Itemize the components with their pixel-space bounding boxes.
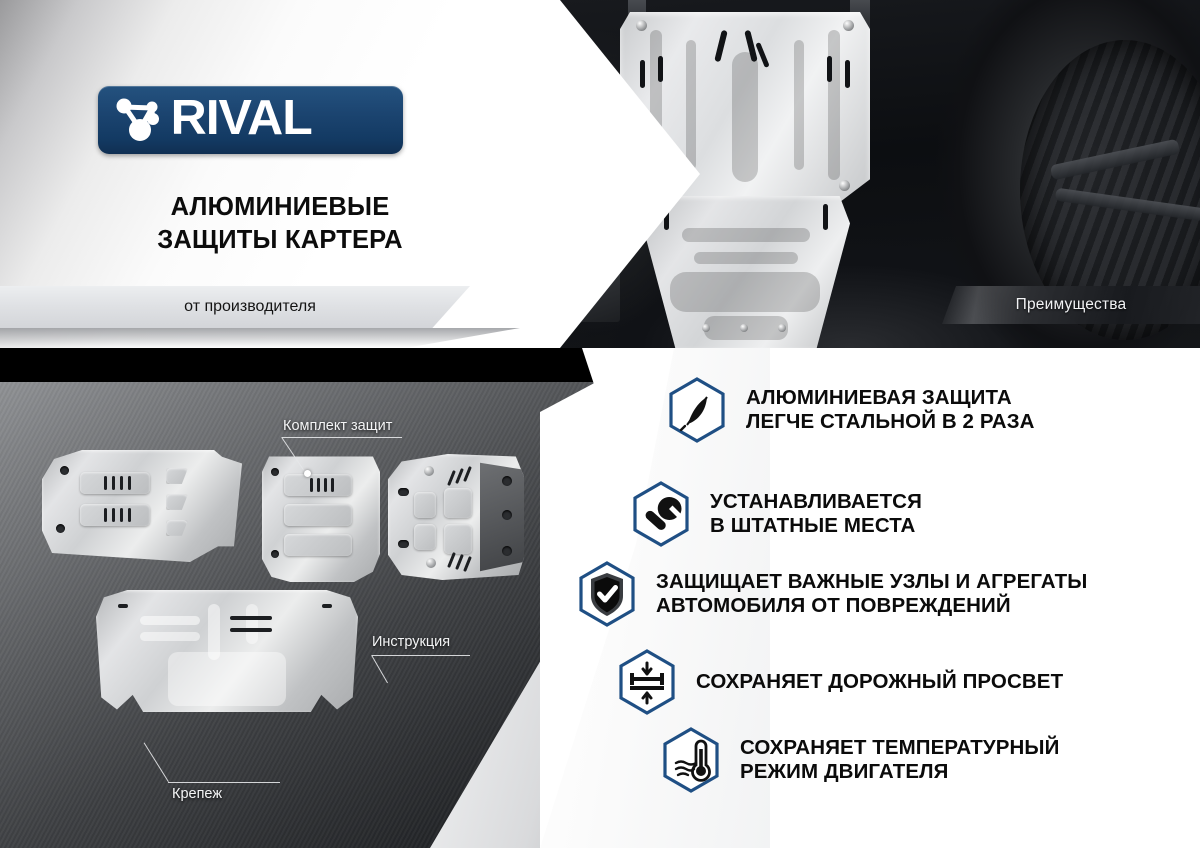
advantages-tab-label: Преимущества <box>1016 296 1127 314</box>
advantage-text-2: УСТАНАВЛИВАЕТСЯ В ШТАТНЫЕ МЕСТА <box>710 490 922 538</box>
kit-leader-line <box>282 437 412 477</box>
advantages-tab[interactable]: Преимущества <box>942 286 1200 324</box>
advantage-item-3: ЗАЩИЩАЕТ ВАЖНЫЕ УЗЛЫ И АГРЕГАТЫ АВТОМОБИ… <box>576 560 1087 628</box>
page-title: АЛЮМИНИЕВЫЕ ЗАЩИТЫ КАРТЕРА <box>0 191 560 257</box>
callout-fasteners-label: Крепеж <box>172 786 222 802</box>
instruction-leader-line <box>372 655 482 691</box>
wrench-icon <box>630 480 692 548</box>
skid-plate-main <box>96 590 358 712</box>
headline-line-2: ЗАЩИТЫ КАРТЕРА <box>0 224 560 257</box>
maker-bar: от производителя <box>0 286 470 328</box>
callout-kit: Комплект защит <box>283 418 392 434</box>
callout-instruction: Инструкция <box>372 634 450 650</box>
ground-clearance-icon <box>616 648 678 716</box>
advantage-item-2: УСТАНАВЛИВАЕТСЯ В ШТАТНЫЕ МЕСТА <box>630 480 922 548</box>
advantage-text-4: СОХРАНЯЕТ ДОРОЖНЫЙ ПРОСВЕТ <box>696 670 1063 694</box>
advantage-text-3: ЗАЩИЩАЕТ ВАЖНЫЕ УЗЛЫ И АГРЕГАТЫ АВТОМОБИ… <box>656 570 1087 618</box>
thermometer-icon <box>660 726 722 794</box>
callout-kit-label: Комплект защит <box>283 418 392 434</box>
brand-logo-text: RIVAL <box>171 94 312 147</box>
callout-instruction-label: Инструкция <box>372 634 450 650</box>
advantage-item-1: АЛЮМИНИЕВАЯ ЗАЩИТА ЛЕГЧЕ СТАЛЬНОЙ В 2 РА… <box>666 376 1035 444</box>
skid-plate-lower <box>642 196 850 348</box>
skid-plate-a <box>42 450 242 562</box>
brand-logo[interactable]: RIVAL <box>98 86 403 154</box>
callout-fasteners: Крепеж <box>172 786 222 802</box>
poster-root: Преимущества RIVAL АЛ <box>0 0 1200 848</box>
headline-line-1: АЛЮМИНИЕВЫЕ <box>0 191 560 224</box>
shield-check-icon <box>576 560 638 628</box>
maker-label: от производителя <box>184 298 316 316</box>
feather-icon <box>666 376 728 444</box>
advantage-item-4: СОХРАНЯЕТ ДОРОЖНЫЙ ПРОСВЕТ <box>616 648 1063 716</box>
advantage-text-5: СОХРАНЯЕТ ТЕМПЕРАТУРНЫЙ РЕЖИМ ДВИГАТЕЛЯ <box>740 736 1059 784</box>
advantages-list: АЛЮМИНИЕВАЯ ЗАЩИТА ЛЕГЧЕ СТАЛЬНОЙ В 2 РА… <box>600 348 1200 848</box>
advantage-text-1: АЛЮМИНИЕВАЯ ЗАЩИТА ЛЕГЧЕ СТАЛЬНОЙ В 2 РА… <box>746 386 1035 434</box>
molecule-icon <box>112 92 168 148</box>
advantage-item-5: СОХРАНЯЕТ ТЕМПЕРАТУРНЫЙ РЕЖИМ ДВИГАТЕЛЯ <box>660 726 1059 794</box>
